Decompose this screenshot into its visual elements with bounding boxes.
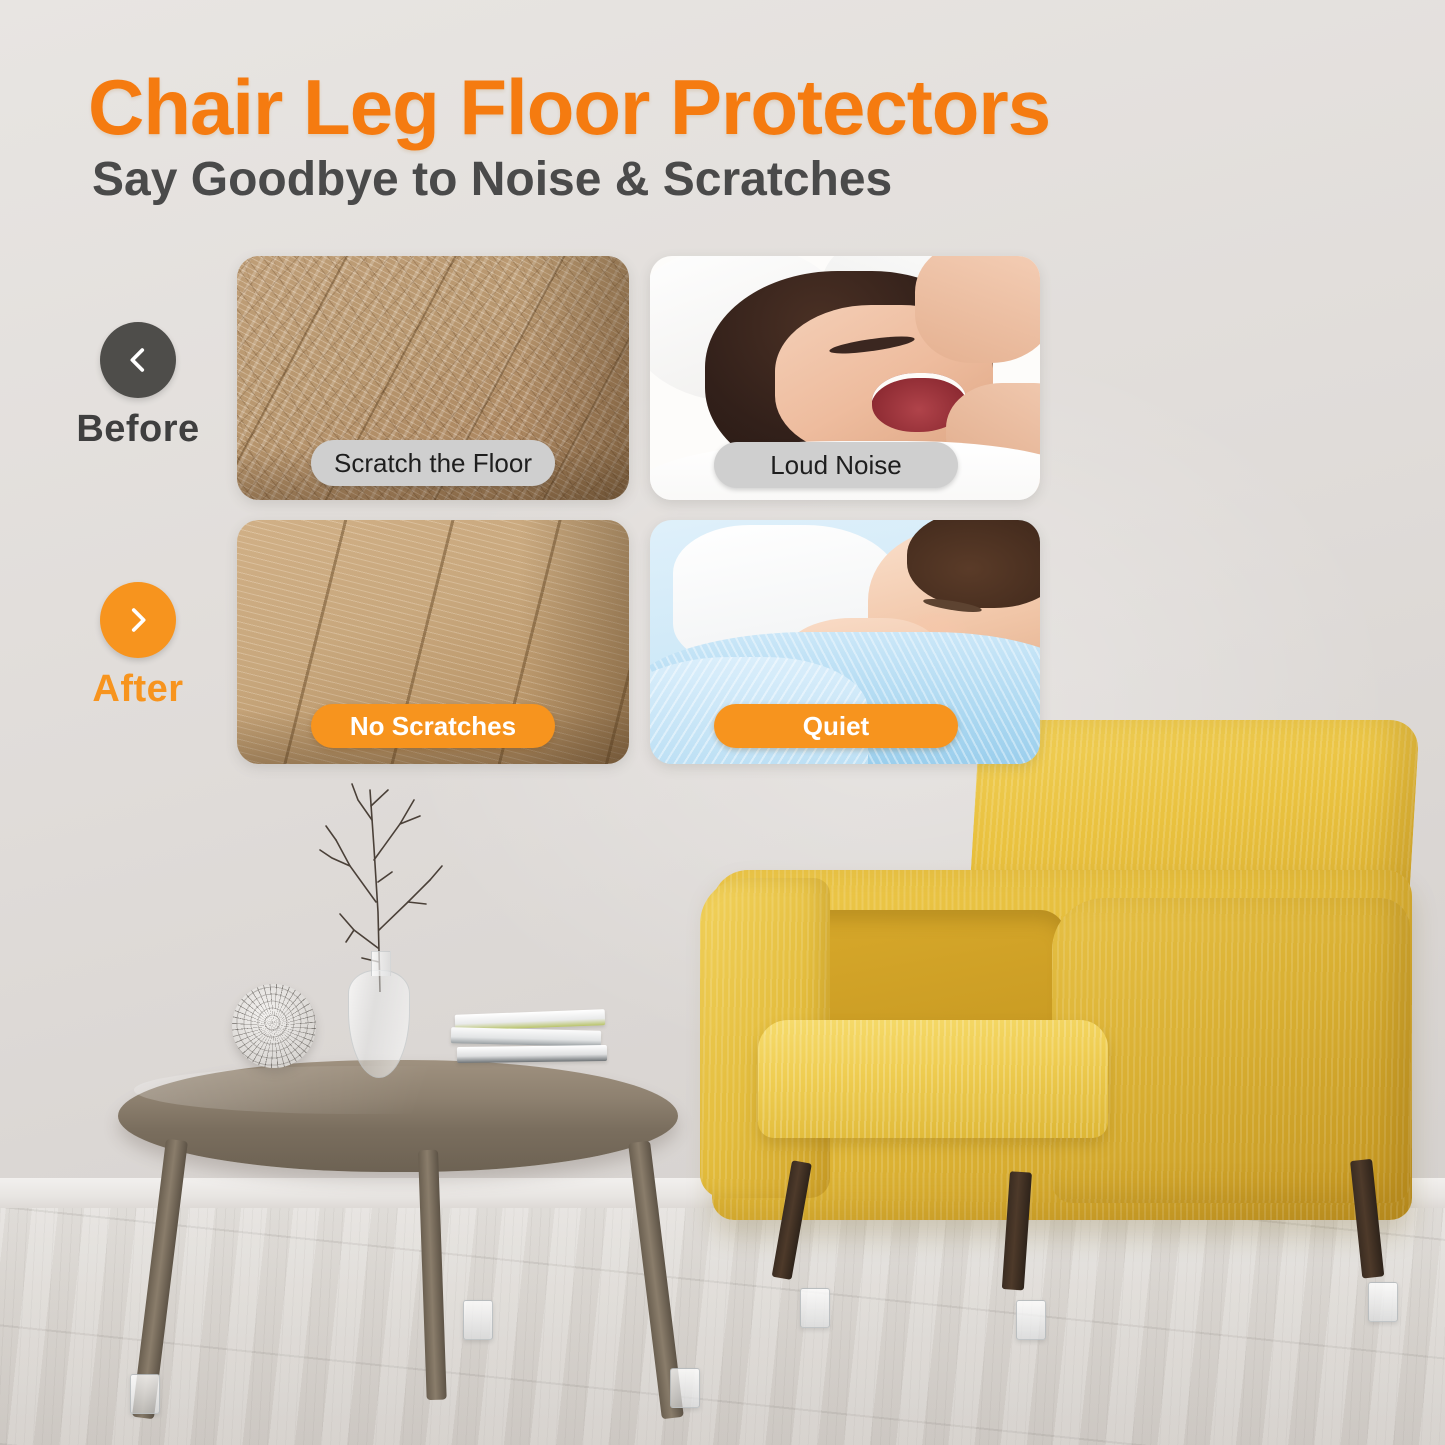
floor-protector-cap — [463, 1300, 493, 1340]
table-top — [118, 1060, 678, 1172]
floor-protector-cap — [800, 1288, 830, 1328]
page-subtitle: Say Goodbye to Noise & Scratches — [92, 152, 1092, 207]
baby-hair — [907, 520, 1040, 608]
caption-scratch-the-floor: Scratch the Floor — [311, 440, 555, 486]
floor-protector-cap — [130, 1374, 160, 1414]
floor-protector-cap — [670, 1368, 700, 1408]
caption-quiet: Quiet — [714, 704, 958, 748]
before-label: Before — [53, 408, 223, 451]
caption-loud-noise: Loud Noise — [714, 442, 958, 488]
product-infographic: Chair Leg Floor Protectors Say Goodbye t… — [0, 0, 1445, 1445]
book — [457, 1045, 607, 1063]
table-leg — [418, 1150, 447, 1401]
yellow-armchair — [700, 720, 1445, 1280]
page-title: Chair Leg Floor Protectors — [88, 62, 1208, 153]
chevron-left-icon — [100, 322, 176, 398]
after-label: After — [53, 668, 223, 711]
book-stack — [455, 1012, 605, 1064]
chair-seat-cushion — [758, 1020, 1108, 1138]
before-badge: Before — [53, 322, 223, 451]
floor-protector-cap — [1368, 1282, 1398, 1322]
wire-sphere-decor — [232, 984, 316, 1068]
hand — [915, 256, 1040, 363]
chevron-right-icon — [100, 582, 176, 658]
caption-no-scratches: No Scratches — [311, 704, 555, 748]
book — [451, 1027, 601, 1047]
after-badge: After — [53, 582, 223, 711]
floor-protector-cap — [1016, 1300, 1046, 1340]
